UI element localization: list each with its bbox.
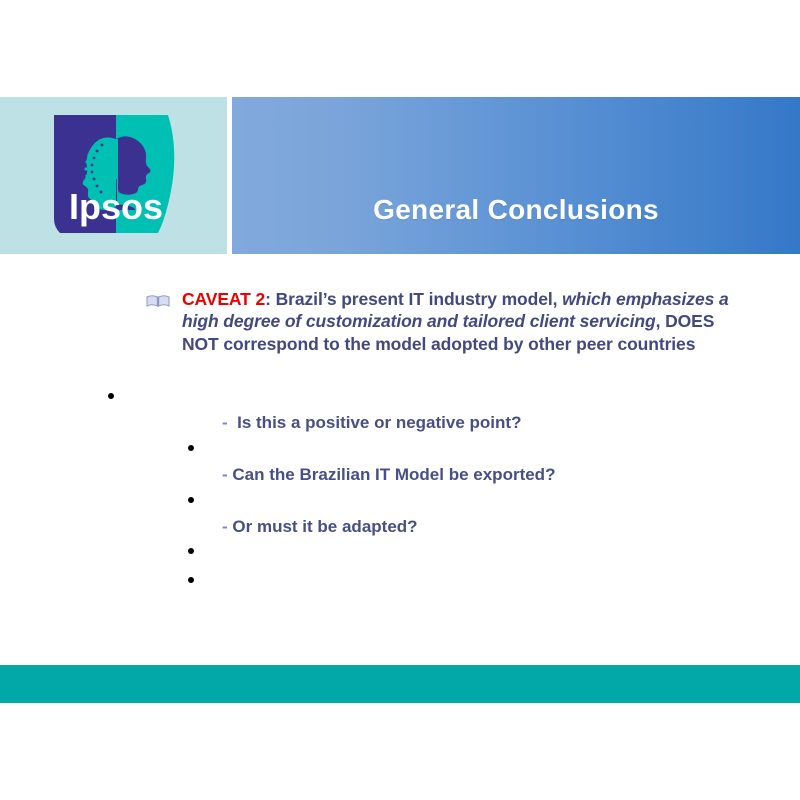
list-item-marker xyxy=(188,548,194,554)
list-item-marker xyxy=(108,393,114,399)
caveat-label: CAVEAT 2 xyxy=(182,289,265,309)
title-panel: General Conclusions xyxy=(232,97,800,254)
sub-item-label: Can the Brazilian IT Model be exported? xyxy=(232,465,555,484)
sub-item-1: - Is this a positive or negative point? xyxy=(222,413,521,433)
page-title: General Conclusions xyxy=(373,194,659,226)
svg-text:Ipsos: Ipsos xyxy=(69,186,163,227)
main-bullet: CAVEAT 2: Brazil’s present IT industry m… xyxy=(146,288,746,355)
list-item-marker xyxy=(188,445,194,451)
slide-canvas: General Conclusions xyxy=(0,0,800,800)
sub-item-label: Or must it be adapted? xyxy=(232,517,417,536)
footer-bar xyxy=(0,665,800,703)
main-bullet-text: CAVEAT 2: Brazil’s present IT industry m… xyxy=(146,288,746,355)
sub-item-label: Is this a positive or negative point? xyxy=(237,413,521,432)
sub-item-2: - Can the Brazilian IT Model be exported… xyxy=(222,465,555,485)
sub-item-dash: - xyxy=(222,413,228,432)
ipsos-logo: Ipsos xyxy=(54,115,178,233)
sub-item-dash: - xyxy=(222,465,228,484)
list-item-marker xyxy=(188,497,194,503)
sub-item-dash: - xyxy=(222,517,228,536)
main-bullet-segment-1: : Brazil’s present IT industry model, xyxy=(265,289,562,309)
slide-body: CAVEAT 2: Brazil’s present IT industry m… xyxy=(0,254,800,665)
sub-item-3: - Or must it be adapted? xyxy=(222,517,418,537)
open-book-icon xyxy=(146,294,170,308)
list-item-marker xyxy=(188,577,194,583)
